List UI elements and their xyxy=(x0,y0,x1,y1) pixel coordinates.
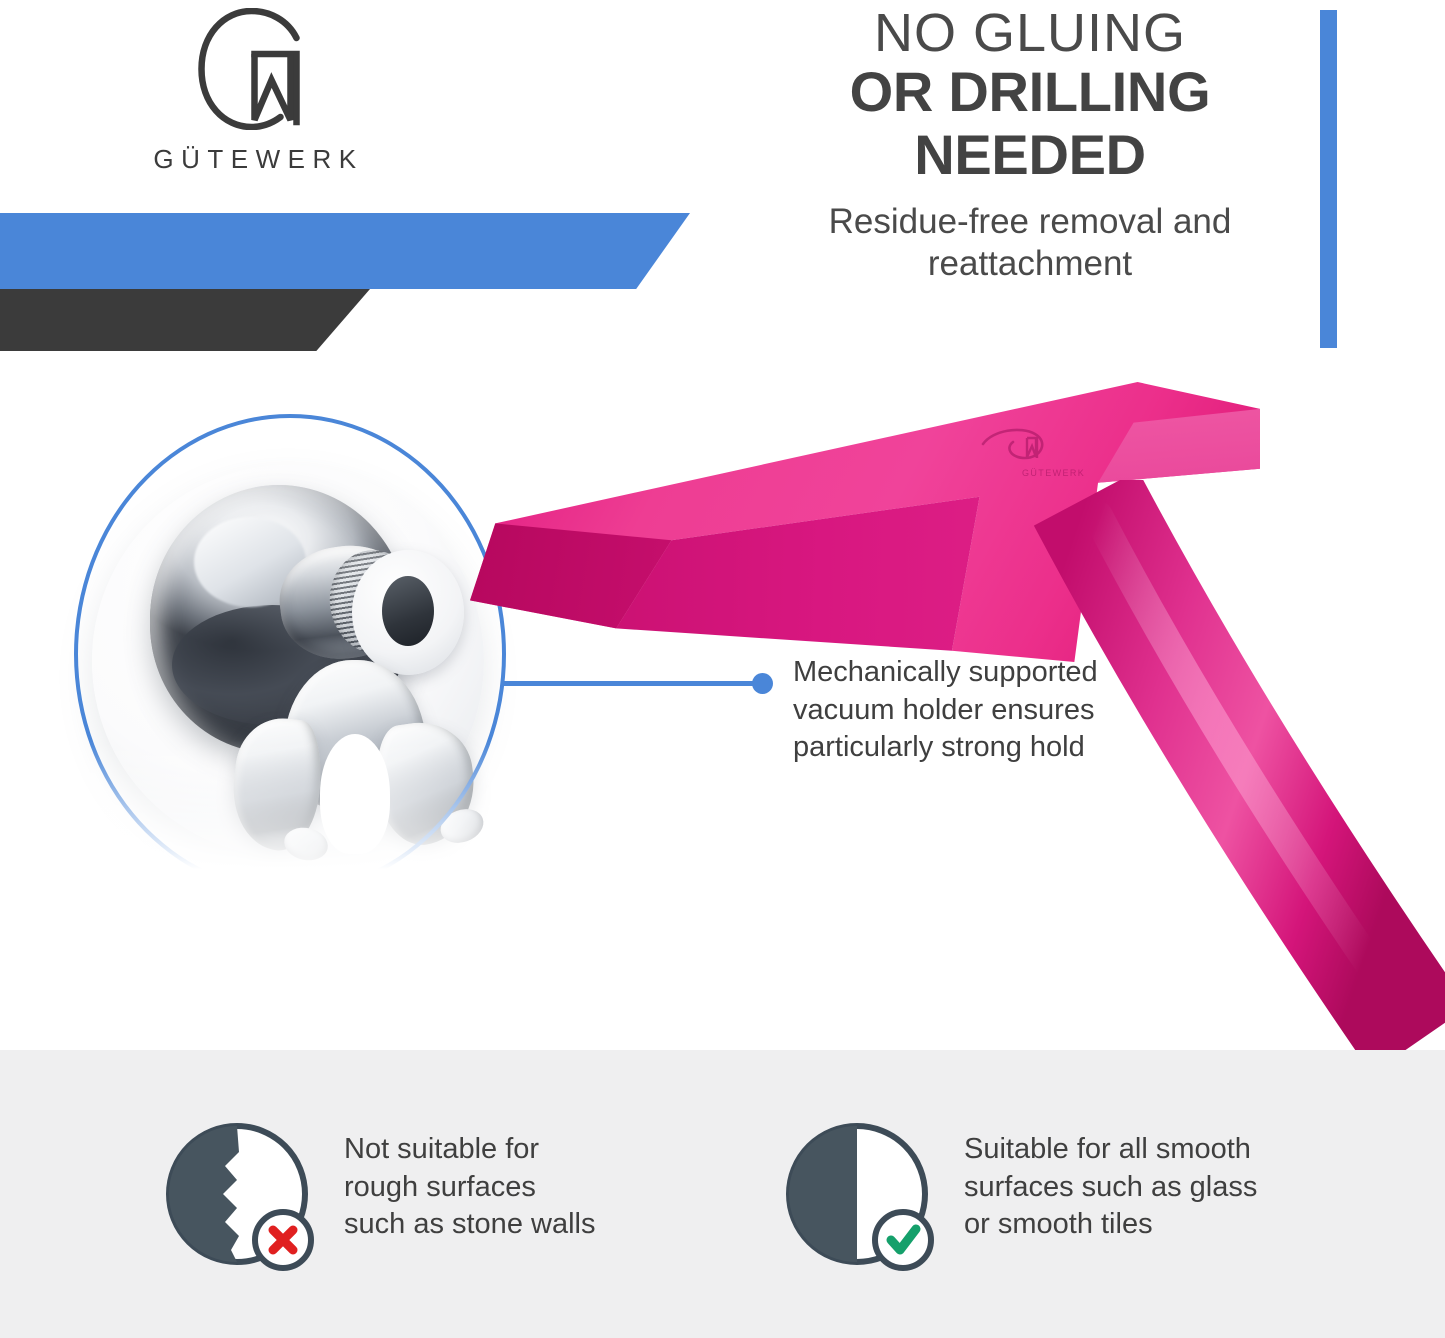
gutewerk-g-w-monogram-icon xyxy=(193,8,318,130)
callout-connector-dot xyxy=(752,673,773,694)
callout-text: Mechanically supported vacuum holder ens… xyxy=(793,654,1183,767)
headline-line-1: NO GLUING xyxy=(760,6,1300,61)
rough-surface-circle-icon xyxy=(165,1122,317,1274)
surface-compatibility-panel: Not suitable for rough surfaces such as … xyxy=(0,1050,1445,1338)
zoom-ring-fade xyxy=(60,740,530,920)
installation-options-banner xyxy=(0,213,690,289)
headline-line-3: NEEDED xyxy=(760,124,1300,187)
headline-line-2: OR DRILLING xyxy=(760,61,1300,124)
suction-cup-step-banner xyxy=(0,289,370,351)
svg-text:GÜTEWERK: GÜTEWERK xyxy=(1022,468,1085,478)
brand-logo: GÜTEWERK xyxy=(140,8,370,183)
product-infographic: GÜTEWERK Three installation options: 1. … xyxy=(0,0,1445,1338)
surface-item-rough: Not suitable for rough surfaces such as … xyxy=(165,1122,595,1274)
product-photo-stage: GÜTEWERK xyxy=(0,360,1445,1050)
surface-label-smooth: Suitable for all smooth surfaces such as… xyxy=(964,1131,1257,1244)
headline-block: NO GLUING OR DRILLING NEEDED Residue-fre… xyxy=(760,6,1300,285)
callout-connector-line xyxy=(504,681,756,686)
surface-item-smooth: Suitable for all smooth surfaces such as… xyxy=(785,1122,1257,1274)
surface-label-rough: Not suitable for rough surfaces such as … xyxy=(344,1131,595,1244)
headline-accent-rule xyxy=(1320,10,1337,348)
brand-wordmark: GÜTEWERK xyxy=(140,144,370,175)
headline-subtitle: Residue-free removal and reattachment xyxy=(760,201,1300,285)
smooth-surface-circle-icon xyxy=(785,1122,937,1274)
